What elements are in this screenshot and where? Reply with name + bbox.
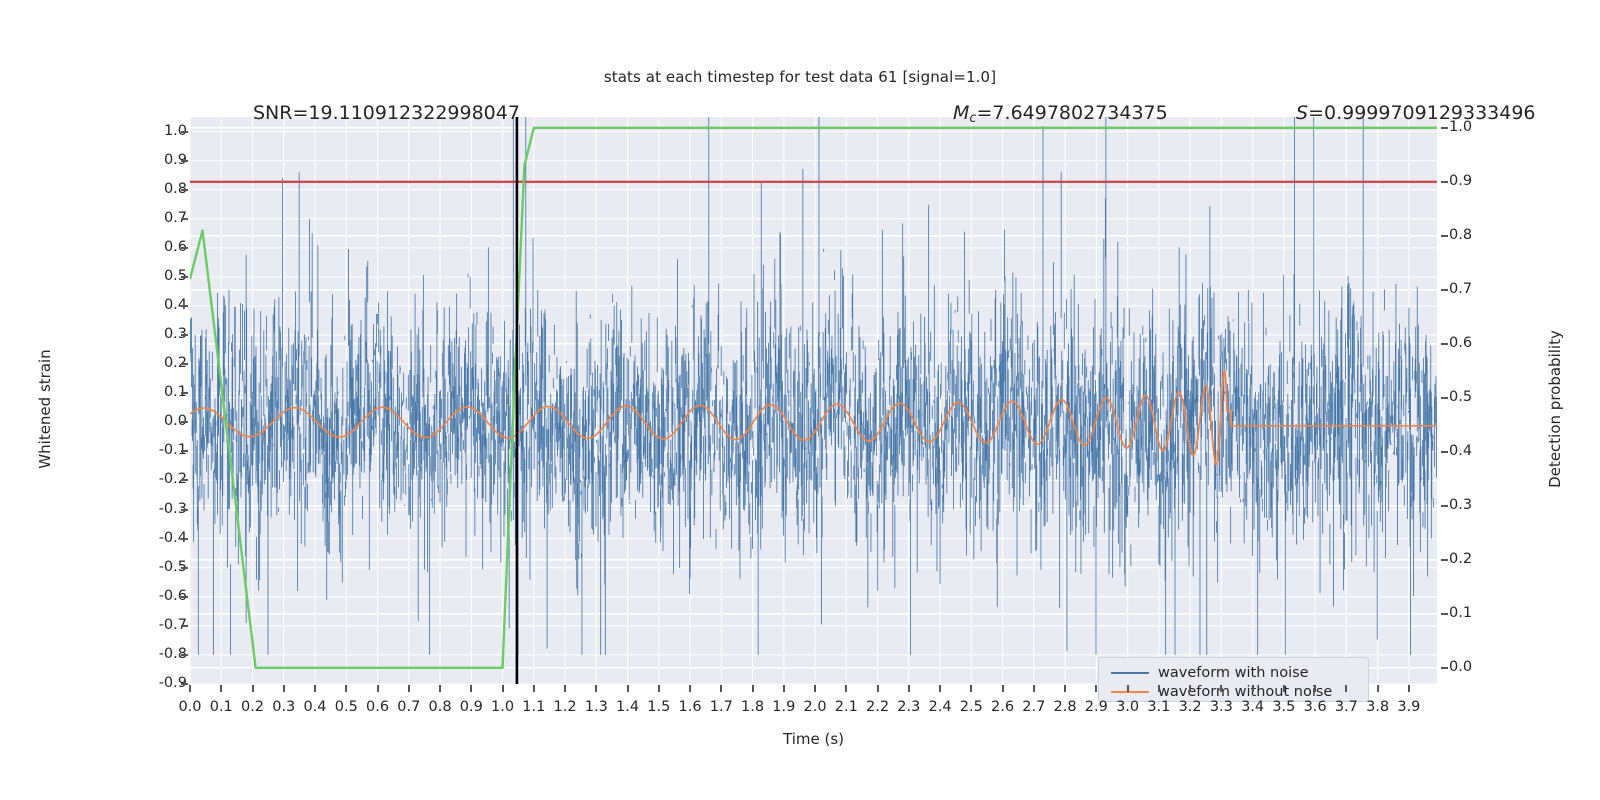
y-tick-mark-right <box>1441 343 1448 345</box>
y-tick-label-right: 0.3 <box>1449 498 1472 513</box>
x-tick-label: 1.6 <box>679 700 702 715</box>
y-tick-mark-left <box>181 479 188 481</box>
legend: waveform with noise waveform without noi… <box>1098 657 1369 702</box>
y-axis-label-right: Detection probability <box>1546 209 1564 609</box>
x-tick-mark <box>720 685 722 692</box>
x-tick-mark <box>1064 685 1066 692</box>
x-tick-label: 3.7 <box>1335 700 1358 715</box>
x-tick-label: 1.2 <box>554 700 577 715</box>
x-tick-label: 1.5 <box>647 700 670 715</box>
y-tick-mark-left <box>181 218 188 220</box>
y-tick-label-right: 0.2 <box>1449 552 1472 567</box>
x-tick-label: 0.7 <box>397 700 420 715</box>
x-tick-mark <box>1345 685 1347 692</box>
x-tick-mark <box>533 685 535 692</box>
plot-canvas <box>190 117 1437 684</box>
y-tick-label-right: 0.6 <box>1449 336 1472 351</box>
y-tick-label-right: 0.4 <box>1449 444 1472 459</box>
x-tick-label: 3.3 <box>1210 700 1233 715</box>
y-tick-mark-left <box>181 596 188 598</box>
x-tick-mark <box>814 685 816 692</box>
x-tick-label: 3.5 <box>1272 700 1295 715</box>
x-tick-mark <box>377 685 379 692</box>
y-tick-mark-left <box>181 509 188 511</box>
y-tick-mark-left <box>181 276 188 278</box>
y-tick-mark-left <box>181 421 188 423</box>
x-tick-label: 3.0 <box>1116 700 1139 715</box>
y-tick-mark-right <box>1441 613 1448 615</box>
x-tick-label: 1.3 <box>585 700 608 715</box>
x-tick-label: 0.5 <box>335 700 358 715</box>
x-tick-mark <box>752 685 754 692</box>
x-tick-mark <box>908 685 910 692</box>
x-tick-label: 1.7 <box>710 700 733 715</box>
x-tick-label: 2.1 <box>835 700 858 715</box>
x-tick-mark <box>1002 685 1004 692</box>
chart-svg <box>190 117 1437 684</box>
y-tick-mark-left <box>181 654 188 656</box>
y-tick-mark-right <box>1441 451 1448 453</box>
x-tick-label: 1.8 <box>741 700 764 715</box>
legend-swatch-clean <box>1111 691 1149 693</box>
x-tick-mark <box>1158 685 1160 692</box>
chart-title: stats at each timestep for test data 61 … <box>0 68 1600 86</box>
x-tick-label: 0.8 <box>428 700 451 715</box>
annotation-chirp-mass: Mc=7.6497802734375 <box>953 104 1168 126</box>
y-tick-mark-left <box>181 538 188 540</box>
y-tick-mark-left <box>181 131 188 133</box>
x-tick-label: 3.8 <box>1366 700 1389 715</box>
x-tick-label: 1.1 <box>522 700 545 715</box>
y-tick-mark-right <box>1441 667 1448 669</box>
y-tick-label-right: 0.7 <box>1449 282 1472 297</box>
annotation-score: S=0.9999709129333496 <box>1296 104 1536 123</box>
x-tick-mark <box>1377 685 1379 692</box>
x-tick-mark <box>439 685 441 692</box>
x-tick-mark <box>658 685 660 692</box>
figure: stats at each timestep for test data 61 … <box>0 0 1600 800</box>
y-tick-label-right: 1.0 <box>1449 120 1472 135</box>
y-tick-label-right: 0.1 <box>1449 606 1472 621</box>
y-tick-label-right: 0.0 <box>1449 660 1472 675</box>
x-tick-label: 2.8 <box>1054 700 1077 715</box>
x-tick-mark <box>877 685 879 692</box>
x-tick-mark <box>314 685 316 692</box>
x-tick-mark <box>627 685 629 692</box>
y-tick-label-right: 0.9 <box>1449 174 1472 189</box>
x-tick-mark <box>1189 685 1191 692</box>
x-tick-label: 2.7 <box>1022 700 1045 715</box>
y-tick-mark-right <box>1441 559 1448 561</box>
x-tick-mark <box>470 685 472 692</box>
y-tick-mark-left <box>181 625 188 627</box>
x-tick-mark <box>1033 685 1035 692</box>
x-tick-label: 0.4 <box>303 700 326 715</box>
x-tick-label: 3.9 <box>1397 700 1420 715</box>
x-tick-label: 2.4 <box>929 700 952 715</box>
y-tick-mark-left <box>181 334 188 336</box>
y-tick-label-right: 0.8 <box>1449 228 1472 243</box>
x-tick-mark <box>189 685 191 692</box>
y-tick-mark-left <box>181 189 188 191</box>
x-tick-mark <box>1408 685 1410 692</box>
x-tick-label: 2.6 <box>991 700 1014 715</box>
y-tick-mark-right <box>1441 289 1448 291</box>
x-tick-mark <box>1095 685 1097 692</box>
x-tick-mark <box>970 685 972 692</box>
y-tick-mark-right <box>1441 127 1448 129</box>
y-tick-mark-left <box>181 683 188 685</box>
x-tick-label: 0.6 <box>366 700 389 715</box>
legend-swatch-noise <box>1111 672 1149 674</box>
x-tick-label: 1.0 <box>491 700 514 715</box>
x-tick-label: 0.2 <box>241 700 264 715</box>
x-tick-label: 3.6 <box>1304 700 1327 715</box>
y-tick-mark-left <box>181 450 188 452</box>
y-tick-mark-left <box>181 305 188 307</box>
x-tick-mark <box>1314 685 1316 692</box>
x-tick-mark <box>1252 685 1254 692</box>
x-tick-label: 2.3 <box>897 700 920 715</box>
y-tick-mark-right <box>1441 397 1448 399</box>
x-tick-mark <box>845 685 847 692</box>
y-tick-mark-left <box>181 567 188 569</box>
x-tick-label: 3.1 <box>1147 700 1170 715</box>
legend-label-clean: waveform without noise <box>1158 684 1332 700</box>
x-tick-label: 0.0 <box>178 700 201 715</box>
x-tick-mark <box>220 685 222 692</box>
x-tick-label: 3.2 <box>1179 700 1202 715</box>
x-tick-mark <box>502 685 504 692</box>
x-tick-label: 3.4 <box>1241 700 1264 715</box>
x-tick-mark <box>939 685 941 692</box>
x-tick-mark <box>252 685 254 692</box>
x-tick-mark <box>1220 685 1222 692</box>
y-tick-mark-left <box>181 363 188 365</box>
plot-area <box>190 117 1437 684</box>
y-tick-mark-right <box>1441 505 1448 507</box>
x-tick-label: 1.4 <box>616 700 639 715</box>
x-tick-label: 2.0 <box>804 700 827 715</box>
x-tick-label: 0.1 <box>210 700 233 715</box>
x-tick-mark <box>1127 685 1129 692</box>
x-tick-mark <box>1283 685 1285 692</box>
x-axis-label: Time (s) <box>190 730 1437 748</box>
x-tick-label: 0.9 <box>460 700 483 715</box>
x-tick-mark <box>564 685 566 692</box>
legend-label-noise: waveform with noise <box>1158 665 1309 681</box>
x-tick-mark <box>689 685 691 692</box>
y-tick-label-right: 0.5 <box>1449 390 1472 405</box>
x-tick-label: 0.3 <box>272 700 295 715</box>
x-tick-label: 2.5 <box>960 700 983 715</box>
y-tick-mark-left <box>181 160 188 162</box>
x-tick-mark <box>283 685 285 692</box>
y-tick-mark-left <box>181 247 188 249</box>
y-axis-label-left: Whitened strain <box>36 209 54 609</box>
x-tick-mark <box>345 685 347 692</box>
x-tick-mark <box>595 685 597 692</box>
x-tick-label: 2.2 <box>866 700 889 715</box>
x-tick-label: 2.9 <box>1085 700 1108 715</box>
y-tick-mark-left <box>181 392 188 394</box>
legend-item: waveform without noise <box>1099 682 1368 701</box>
x-tick-label: 1.9 <box>772 700 795 715</box>
annotation-snr: SNR=19.110912322998047 <box>253 104 520 123</box>
legend-item: waveform with noise <box>1099 663 1368 682</box>
x-tick-mark <box>783 685 785 692</box>
y-tick-mark-right <box>1441 181 1448 183</box>
y-tick-mark-right <box>1441 235 1448 237</box>
x-tick-mark <box>408 685 410 692</box>
